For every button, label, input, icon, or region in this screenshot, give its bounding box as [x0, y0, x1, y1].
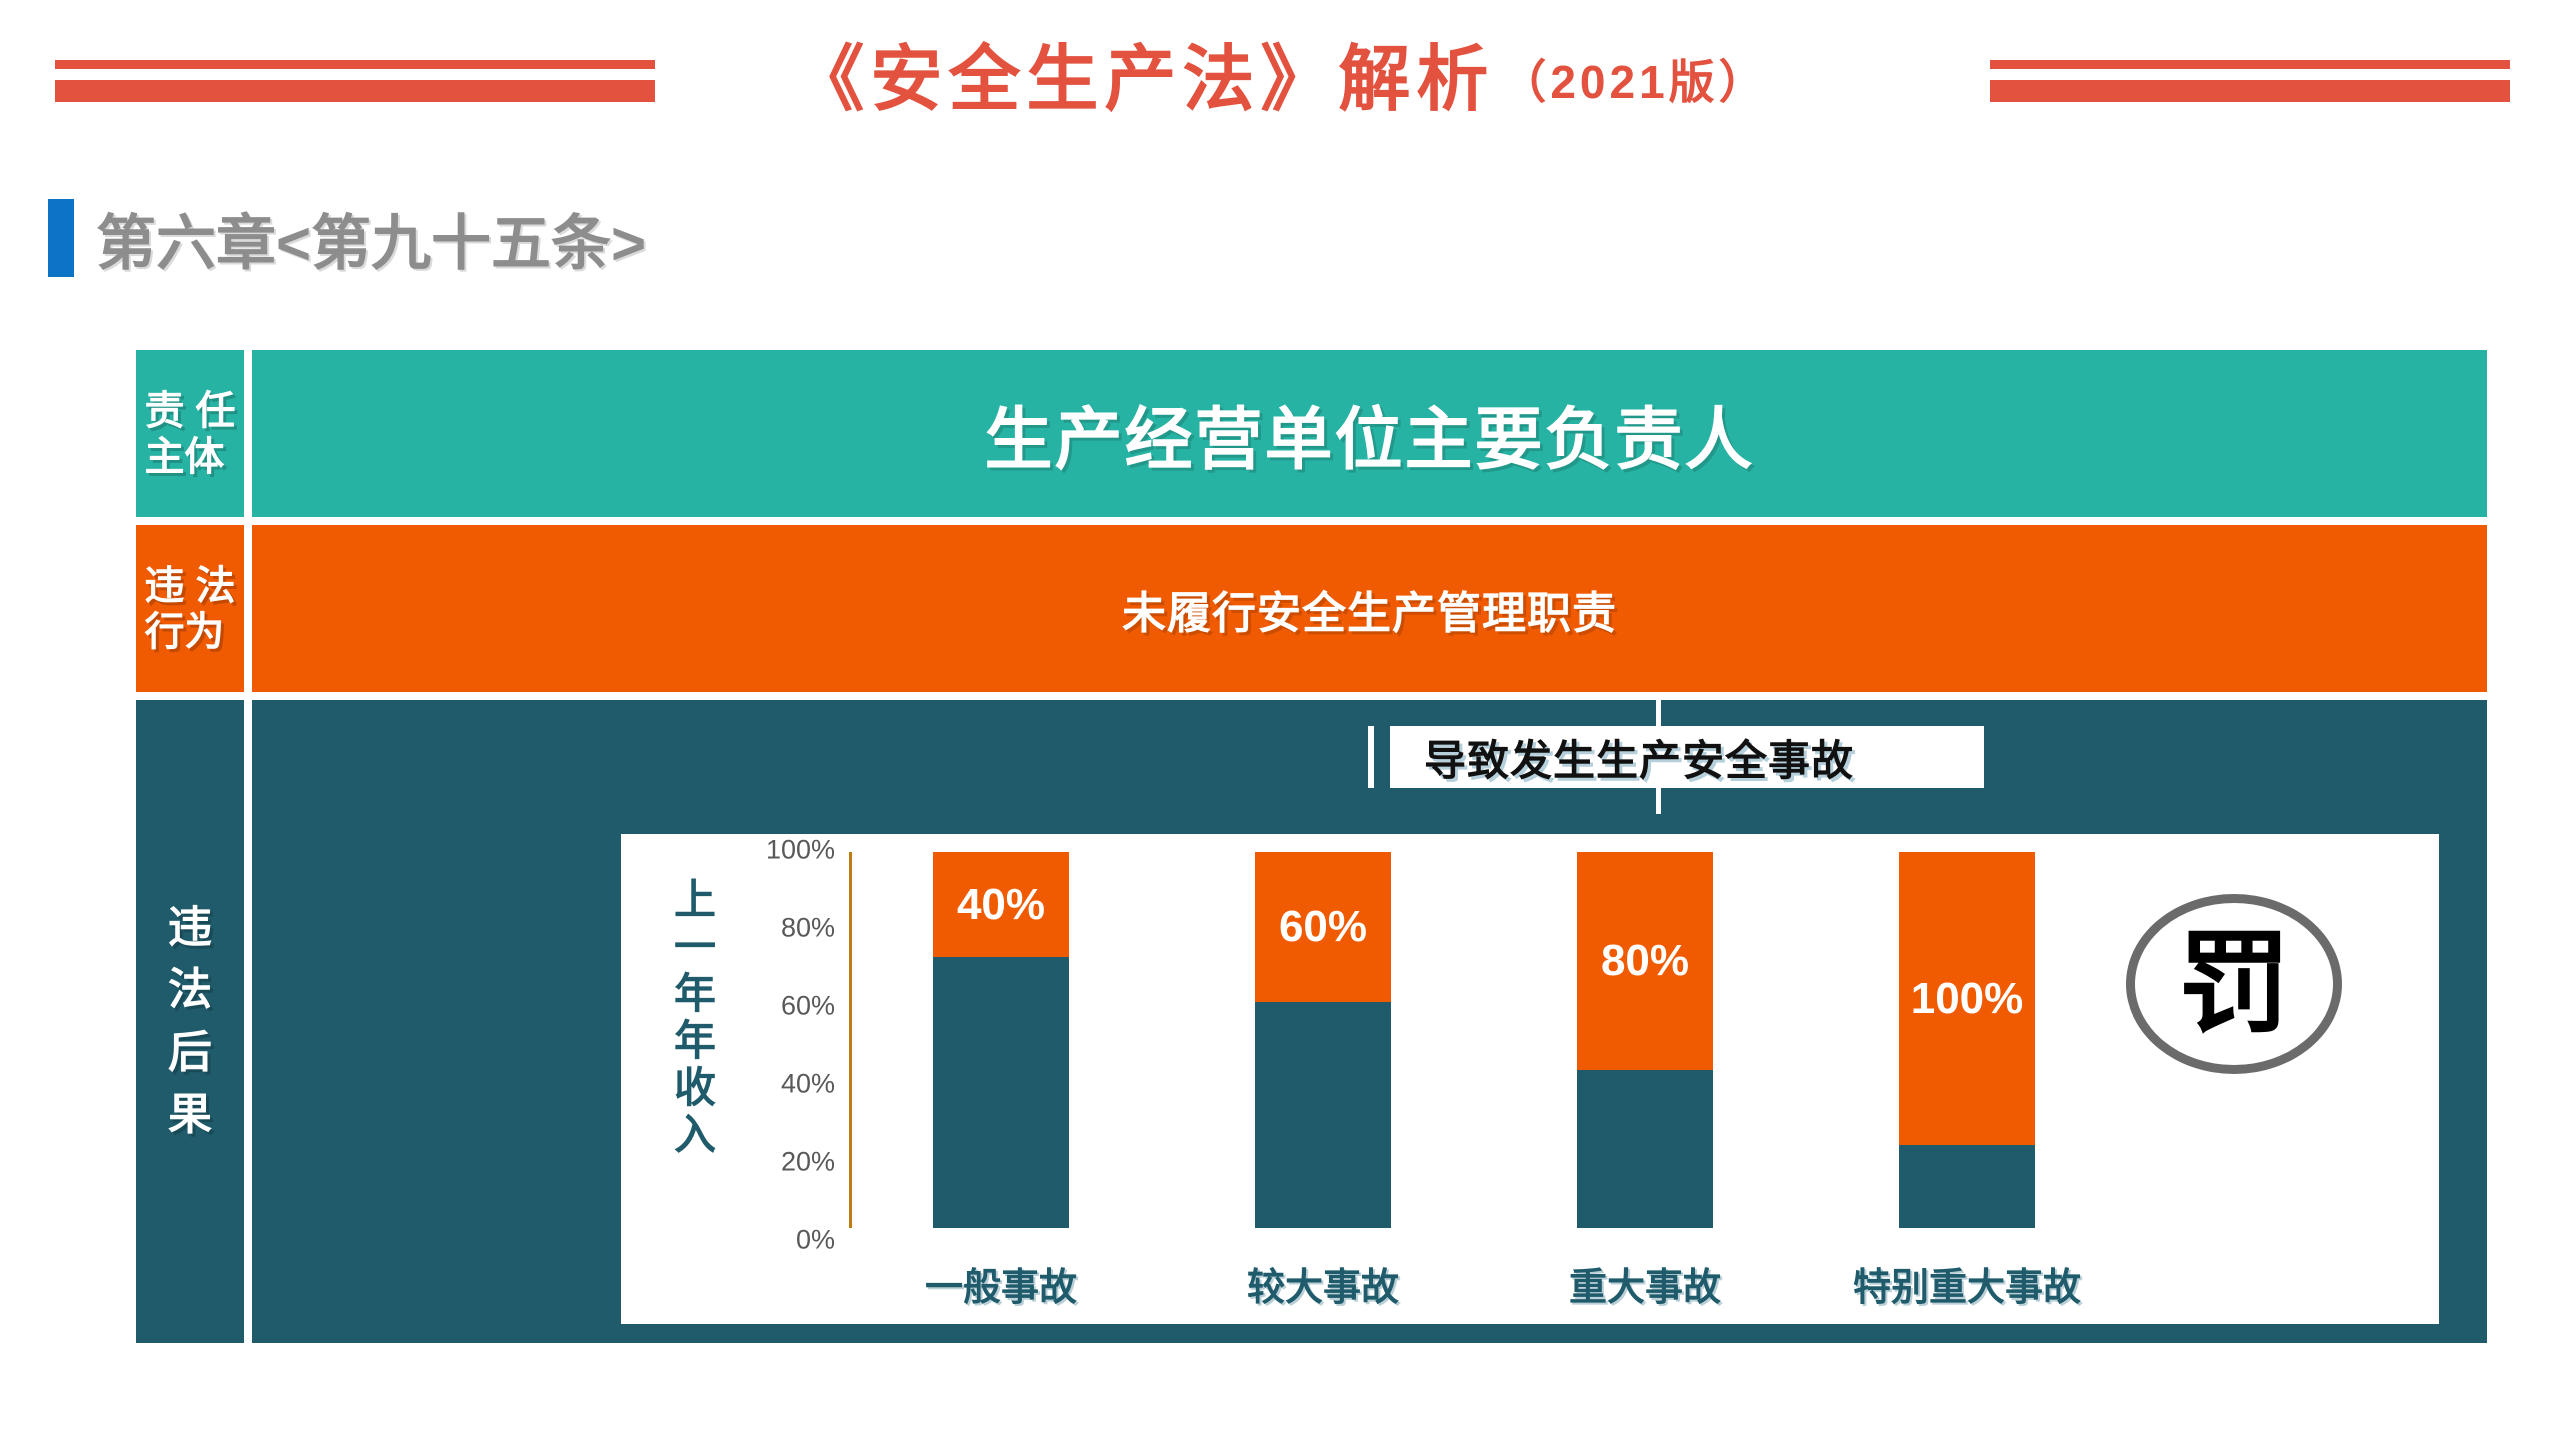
bar-serious-accident: 80%: [1577, 852, 1713, 1228]
bar-4-value-label: 100%: [1911, 974, 2024, 1024]
stamp-character: 罚: [2126, 894, 2342, 1074]
page-header: 《安全生产法》解析（2021版）: [0, 0, 2561, 170]
row3-label-char3: 后: [168, 1022, 212, 1084]
subtitle-label: 第六章<第九十五条>: [96, 195, 646, 282]
responsible-party-text: 生产经营单位主要负责人: [984, 384, 1754, 483]
bar-1-orange-segment: 40%: [933, 852, 1069, 957]
bar-3-orange-segment: 80%: [1577, 852, 1713, 1070]
row-label-consequence: 违 法 后 果: [136, 700, 244, 1343]
chart-plot-area: 40% 一般事故 60% 较大事故 80%: [869, 852, 2069, 1228]
y-axis-char-1: 一: [665, 923, 725, 970]
page-title: 《安全生产法》解析（2021版）: [0, 20, 2561, 125]
row2-label-line1: 违 法: [144, 563, 235, 609]
page-title-main: 《安全生产法》解析: [792, 20, 1494, 125]
fine-percentage-chart: 上 一 年 年 收 入 100% 80% 60% 40% 20% 0%: [621, 834, 2439, 1324]
bar-1-teal-segment: [933, 957, 1069, 1228]
y-axis-char-3: 年: [665, 1017, 725, 1064]
law-breakdown-table: 责 任 主体 生产经营单位主要负责人 违 法 行为 未履行安全生产管理职责 违 …: [136, 350, 2487, 1343]
y-axis-char-2: 年: [665, 970, 725, 1017]
category-label-extra-serious: 特别重大事故: [1819, 1256, 2115, 1311]
chart-y-axis-title: 上 一 年 年 收 入: [665, 876, 725, 1158]
row-content-consequence: 导致发生生产安全事故 上 一 年 年 收 入 100% 80% 60%: [252, 700, 2487, 1343]
bar-2-orange-segment: 60%: [1255, 852, 1391, 1002]
y-tick-60: 60%: [781, 991, 835, 1022]
violation-text: 未履行安全生产管理职责: [1122, 577, 1617, 641]
row2-label-line2: 行为: [144, 609, 235, 655]
table-row-violation: 违 法 行为 未履行安全生产管理职责: [136, 525, 2487, 692]
y-tick-0: 0%: [796, 1225, 835, 1256]
bar-3-value-label: 80%: [1601, 936, 1689, 986]
callout-text: 导致发生生产安全事故: [1424, 727, 1854, 788]
y-axis-char-4: 收: [665, 1064, 725, 1111]
bar-4-orange-segment: 100%: [1899, 852, 2035, 1145]
category-label-major: 较大事故: [1215, 1256, 1431, 1311]
bar-extra-serious-accident: 100%: [1899, 852, 2035, 1228]
penalty-stamp: 罚: [2126, 894, 2342, 1074]
row1-label-line1: 责 任: [144, 388, 235, 434]
bar-general-accident: 40%: [933, 852, 1069, 1228]
chart-y-ticks: 100% 80% 60% 40% 20% 0%: [729, 850, 841, 1240]
subtitle-accent-bar: [48, 199, 74, 277]
callout-stem-bottom: [1656, 788, 1661, 814]
page-title-version: （2021版）: [1500, 46, 1768, 112]
y-tick-100: 100%: [766, 835, 835, 866]
y-axis-char-5: 入: [665, 1111, 725, 1158]
callout-box: 导致发生生产安全事故: [1390, 726, 1984, 788]
y-tick-20: 20%: [781, 1147, 835, 1178]
bar-major-accident: 60%: [1255, 852, 1391, 1228]
bar-3-teal-segment: [1577, 1070, 1713, 1228]
bar-4-teal-segment: [1899, 1145, 2035, 1228]
y-tick-80: 80%: [781, 913, 835, 944]
row3-label-char4: 果: [168, 1084, 212, 1146]
row-content-responsible-party: 生产经营单位主要负责人: [252, 350, 2487, 517]
table-row-consequence: 违 法 后 果 导致发生生产安全事故 上 一 年: [136, 700, 2487, 1343]
chart-y-axis-line: [849, 852, 852, 1228]
row3-label-char1: 违: [168, 897, 212, 959]
bar-2-teal-segment: [1255, 1002, 1391, 1228]
category-label-serious: 重大事故: [1537, 1256, 1753, 1311]
row3-label-char2: 法: [168, 959, 212, 1021]
table-row-responsible-party: 责 任 主体 生产经营单位主要负责人: [136, 350, 2487, 517]
section-subtitle: 第六章<第九十五条>: [48, 196, 646, 280]
category-label-general: 一般事故: [893, 1256, 1109, 1311]
y-tick-40: 40%: [781, 1069, 835, 1100]
callout-stem-top: [1656, 700, 1661, 726]
row1-label-line2: 主体: [144, 434, 235, 480]
row-content-violation: 未履行安全生产管理职责: [252, 525, 2487, 692]
callout-left-accent: [1368, 726, 1374, 788]
bar-1-value-label: 40%: [957, 880, 1045, 930]
y-axis-char-0: 上: [665, 876, 725, 923]
bar-2-value-label: 60%: [1279, 902, 1367, 952]
row-label-responsible-party: 责 任 主体: [136, 350, 244, 517]
row-label-violation: 违 法 行为: [136, 525, 244, 692]
